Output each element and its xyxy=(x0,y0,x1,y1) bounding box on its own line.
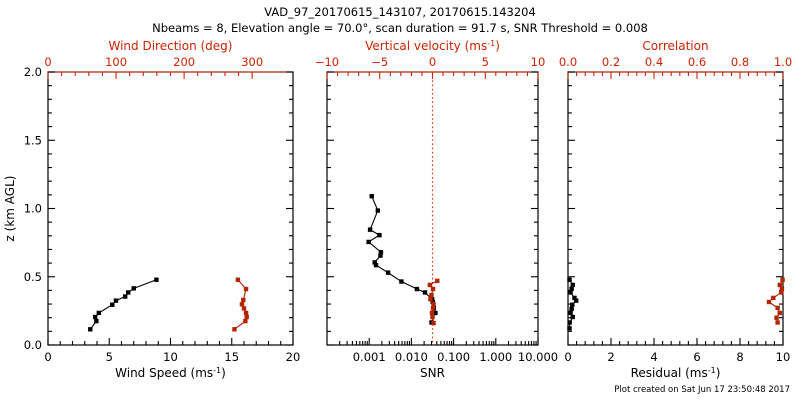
data-point-snr xyxy=(415,287,419,291)
ytick-label: 0.5 xyxy=(24,270,42,284)
xtick-label: 0.100 xyxy=(437,350,470,364)
data-point-wind-speed xyxy=(114,298,118,302)
xaxis-title-1: Wind Speed (ms-1) xyxy=(115,366,226,380)
xtick-top-label: 10 xyxy=(531,55,546,69)
data-point-wind-speed xyxy=(123,294,127,298)
data-point-snr xyxy=(374,263,378,267)
panel-3-frame xyxy=(568,72,783,345)
data-point-wind-direction xyxy=(242,306,246,310)
data-point-snr xyxy=(386,270,390,274)
data-point-wind-speed xyxy=(126,290,130,294)
xtick-top-label: 0.0 xyxy=(559,55,577,69)
series-line-snr xyxy=(369,196,436,322)
data-point-wind-direction xyxy=(244,287,248,291)
data-point-correlation xyxy=(771,296,775,300)
vad-plot-figure: VAD_97_20170615_143107, 20170615.143204N… xyxy=(0,0,800,400)
data-point-snr xyxy=(370,194,374,198)
data-point-snr xyxy=(377,233,381,237)
data-point-residual xyxy=(568,320,572,324)
data-point-wind-direction xyxy=(244,311,248,315)
data-point-snr xyxy=(368,227,372,231)
xtick-label: 20 xyxy=(286,350,301,364)
data-point-vertical-velocity xyxy=(431,302,435,306)
plot-created-footer: Plot created on Sat Jun 17 23:50:48 2017 xyxy=(614,385,790,395)
panel-1-frame xyxy=(48,72,293,345)
data-point-residual xyxy=(568,311,572,315)
data-point-wind-speed xyxy=(154,278,158,282)
data-point-wind-direction xyxy=(245,315,249,319)
xtick-label: 8 xyxy=(736,350,743,364)
data-point-wind-direction xyxy=(232,327,236,331)
xtick-top-label: 0.2 xyxy=(602,55,620,69)
data-point-vertical-velocity xyxy=(429,293,433,297)
yaxis-title: z (km AGL) xyxy=(3,176,17,242)
xtick-top-label: 0.4 xyxy=(645,55,663,69)
data-point-vertical-velocity xyxy=(428,297,432,301)
xtick-label: 1.000 xyxy=(479,350,512,364)
data-point-vertical-velocity xyxy=(431,321,435,325)
figure-canvas: VAD_97_20170615_143107, 20170615.143204N… xyxy=(0,0,800,400)
xtick-label: 0.001 xyxy=(353,350,386,364)
xtick-top-label: −5 xyxy=(371,55,388,69)
data-point-wind-speed xyxy=(132,286,136,290)
data-point-wind-direction xyxy=(240,302,244,306)
data-point-residual xyxy=(569,307,573,311)
ytick-label: 0.0 xyxy=(24,338,42,352)
data-point-correlation xyxy=(775,320,779,324)
data-point-vertical-velocity xyxy=(431,306,435,310)
data-point-snr xyxy=(376,208,380,212)
data-point-vertical-velocity xyxy=(430,311,434,315)
xtick-label: 2 xyxy=(607,350,614,364)
xtick-top-label: 0.6 xyxy=(688,55,706,69)
xtick-label: 6 xyxy=(693,350,700,364)
data-point-wind-speed xyxy=(94,319,98,323)
xtick-top-label: 5 xyxy=(482,55,489,69)
xtick-label: 0.010 xyxy=(395,350,428,364)
data-point-vertical-velocity xyxy=(431,287,435,291)
xtick-label: 5 xyxy=(106,350,113,364)
data-point-correlation xyxy=(767,300,771,304)
panel-3: 02468100.00.20.40.60.81.0Residual (ms-1)… xyxy=(559,39,792,380)
xtick-top-label: 0 xyxy=(429,55,436,69)
xtick-label: 10.000 xyxy=(518,350,558,364)
data-point-correlation xyxy=(778,311,782,315)
xtick-top-label: −10 xyxy=(315,55,339,69)
data-point-residual xyxy=(571,315,575,319)
data-point-correlation xyxy=(774,316,778,320)
plot-subtitle: Nbeams = 8, Elevation angle = 70.0°, sca… xyxy=(152,21,648,35)
data-point-residual xyxy=(568,290,572,294)
data-point-wind-direction xyxy=(236,278,240,282)
data-point-residual xyxy=(570,303,574,307)
data-point-vertical-velocity xyxy=(435,279,439,283)
data-point-wind-direction xyxy=(241,298,245,302)
plot-title: VAD_97_20170615_143107, 20170615.143204 xyxy=(264,5,536,19)
panel-1: 0510152001002003000.00.51.01.52.0Wind Sp… xyxy=(3,39,300,380)
xtick-label: 0 xyxy=(44,350,51,364)
data-point-vertical-velocity xyxy=(428,283,432,287)
data-point-snr xyxy=(399,279,403,283)
data-point-residual xyxy=(567,326,571,330)
ytick-label: 1.5 xyxy=(24,133,42,147)
xtick-top-label: 300 xyxy=(241,55,263,69)
xtick-top-label: 0 xyxy=(44,55,51,69)
data-point-snr xyxy=(366,240,370,244)
series-line-wind-speed xyxy=(90,280,156,330)
data-point-correlation xyxy=(780,278,784,282)
ytick-label: 2.0 xyxy=(24,65,42,79)
data-point-correlation xyxy=(779,290,783,294)
data-point-wind-speed xyxy=(88,327,92,331)
data-point-wind-speed xyxy=(110,303,114,307)
xtick-label: 15 xyxy=(224,350,239,364)
ytick-label: 1.0 xyxy=(24,202,42,216)
xaxis-top-title-2: Vertical velocity (ms-1) xyxy=(365,39,500,53)
xtick-label: 10 xyxy=(163,350,178,364)
xaxis-title-3: Residual (ms-1) xyxy=(631,366,721,380)
xaxis-top-title-1: Wind Direction (deg) xyxy=(109,39,233,53)
data-point-residual xyxy=(571,283,575,287)
xaxis-top-title-3: Correlation xyxy=(642,39,708,53)
data-point-correlation xyxy=(778,283,782,287)
data-point-correlation xyxy=(775,306,779,310)
xtick-label: 10 xyxy=(776,350,791,364)
data-point-wind-speed xyxy=(97,311,101,315)
xtick-label: 0 xyxy=(564,350,571,364)
data-point-vertical-velocity xyxy=(430,315,434,319)
xtick-label: 4 xyxy=(650,350,657,364)
panel-2: 0.0010.0100.1001.00010.000−10−50510SNRVe… xyxy=(315,39,558,380)
data-point-wind-direction xyxy=(243,319,247,323)
xtick-top-label: 0.8 xyxy=(731,55,749,69)
data-point-residual xyxy=(567,278,571,282)
xtick-top-label: 100 xyxy=(105,55,127,69)
data-point-snr xyxy=(378,253,382,257)
data-point-residual xyxy=(574,298,578,302)
xtick-top-label: 1.0 xyxy=(774,55,792,69)
data-point-snr xyxy=(423,290,427,294)
xtick-top-label: 200 xyxy=(173,55,195,69)
data-point-wind-speed xyxy=(93,315,97,319)
xaxis-title-2: SNR xyxy=(420,366,445,380)
